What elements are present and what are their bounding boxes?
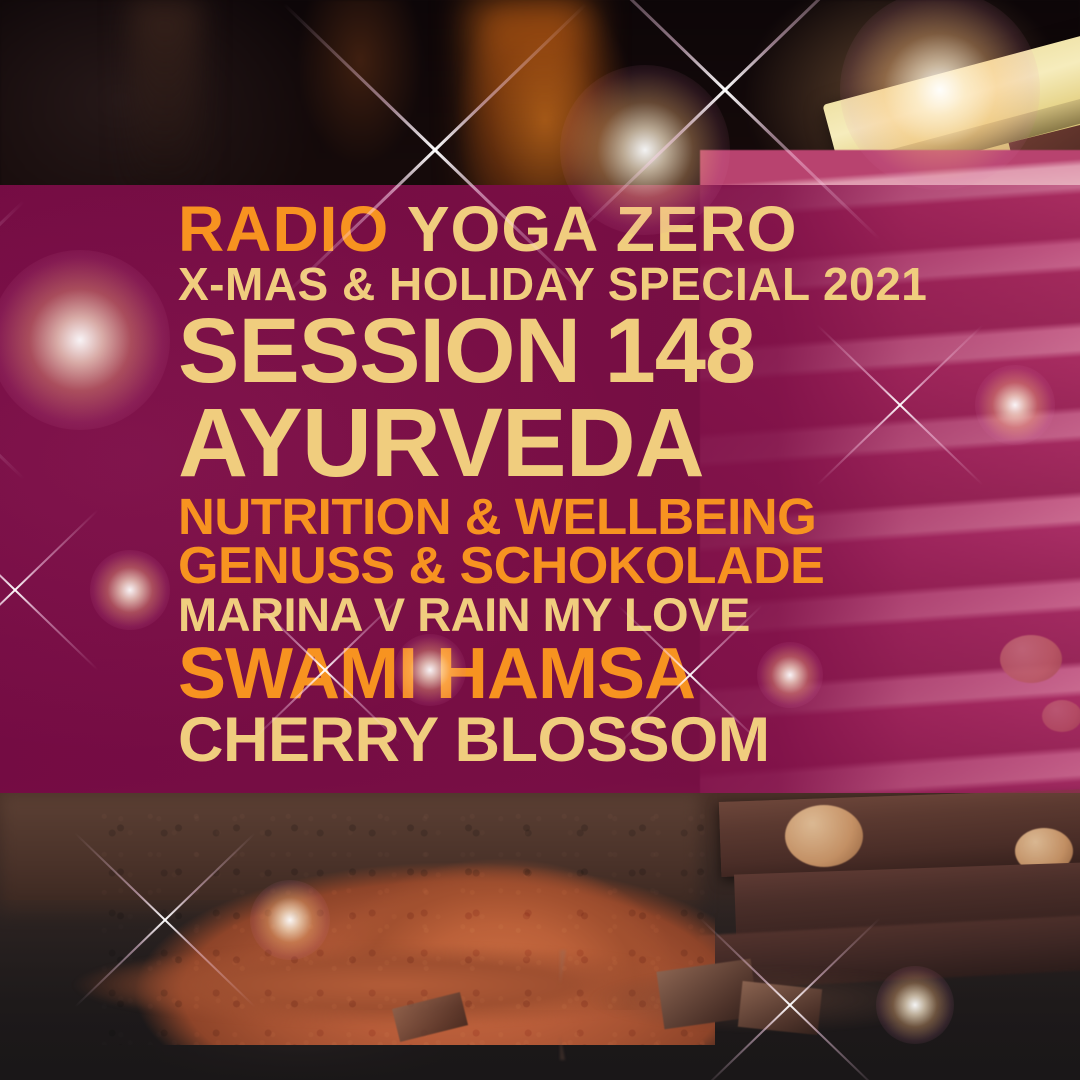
topic-genuss-schokolade: GENUSS & SCHOKOLADE: [178, 540, 930, 592]
headline-word-yoga-zero: YOGA ZERO: [407, 193, 798, 265]
chocolate-chunk: [738, 981, 822, 1035]
artist-marina-v: MARINA V RAIN MY LOVE: [178, 591, 930, 638]
topic-nutrition-wellbeing: NUTRITION & WELLBEING: [178, 491, 930, 542]
headline-radio-yoga-zero: RADIO YOGA ZERO: [178, 197, 930, 261]
headline-word-radio: RADIO: [178, 193, 407, 265]
hazelnut-icon: [785, 805, 863, 867]
blurred-bottle-shape: [130, 0, 200, 190]
session-number: SESSION 148: [178, 305, 930, 397]
poster-text-block: RADIO YOGA ZERO X-MAS & HOLIDAY SPECIAL …: [0, 185, 1080, 793]
topic-ayurveda: AYURVEDA: [178, 394, 930, 491]
artist-swami-hamsa: SWAMI HAMSA: [178, 638, 930, 710]
poster-canvas: RADIO YOGA ZERO X-MAS & HOLIDAY SPECIAL …: [0, 0, 1080, 1080]
artist-cherry-blossom: CHERRY BLOSSOM: [178, 709, 930, 772]
